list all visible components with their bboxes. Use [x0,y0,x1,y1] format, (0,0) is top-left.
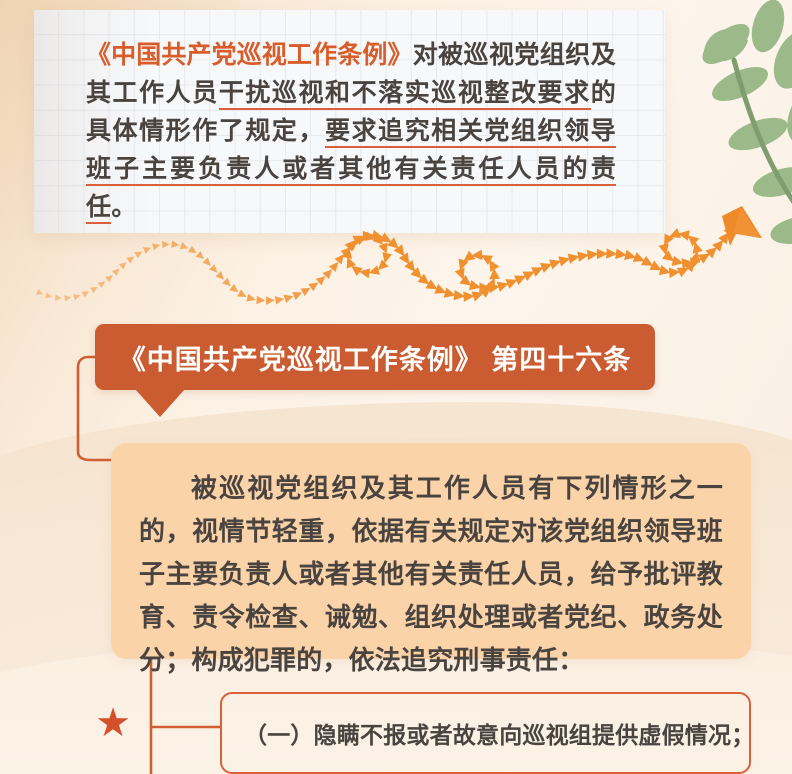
paper-underline-phrase-1: 干扰巡视和不落实巡视整改要求 [219,79,591,110]
list-item[interactable]: （一）隐瞒不报或者故意向巡视组提供虚假情况； [220,692,751,774]
section-banner[interactable]: 《中国共产党巡视工作条例》 第四十六条 [95,324,655,390]
star-icon: ★ [93,703,133,743]
article-content-text: 被巡视党组织及其工作人员有下列情形之一的，视情节轻重，依据有关规定对该党组织领导… [139,467,723,682]
regulation-title-lead: 《中国共产党巡视工作条例》 [86,41,413,69]
list-item-label: （一）隐瞒不报或者故意向巡视组提供虚假情况； [244,716,754,750]
infographic-page: 《中国共产党巡视工作条例》对被巡视党组织及其工作人员干扰巡视和不落实巡视整改要求… [0,0,792,774]
banner-pointer [135,389,185,417]
banner-title: 《中国共产党巡视工作条例》 第四十六条 [119,338,632,377]
article-content-box: 被巡视党组织及其工作人员有下列情形之一的，视情节轻重，依据有关规定对该党组织领导… [111,443,751,659]
arrow-head-icon [722,206,762,246]
banner-body: 《中国共产党巡视工作条例》 第四十六条 [95,324,655,390]
